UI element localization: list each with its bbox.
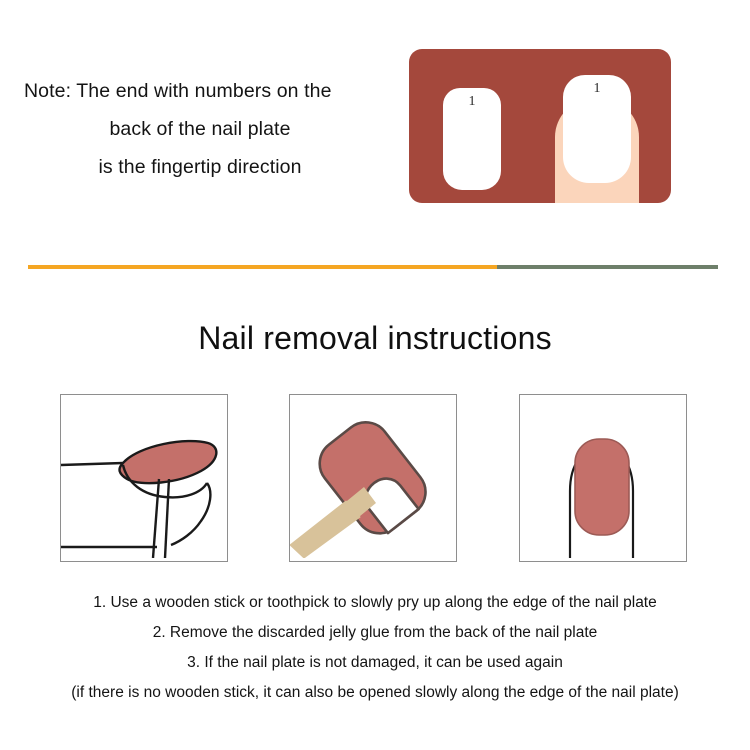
pry-up-side-view-icon [61, 395, 224, 558]
divider-segment-green [497, 265, 718, 269]
instruction-panels [0, 394, 750, 564]
note-line-1: Note: The end with numbers on the [10, 72, 390, 110]
divider-segment-orange [28, 265, 497, 269]
nail-plate-sticker-left: 1 [443, 88, 501, 190]
panel-nail-on-finger [519, 394, 687, 562]
finger-with-nail-plate: 1 [550, 75, 644, 203]
panel-pry-up-side-view [60, 394, 228, 562]
stick-under-nail-icon [290, 395, 453, 558]
section-divider [0, 265, 750, 269]
step-line-2: 2. Remove the discarded jelly glue from … [0, 618, 750, 648]
note-line-3: is the fingertip direction [10, 148, 390, 186]
nail-plate-illustration: 1 1 [409, 49, 671, 203]
step-line-4: (if there is no wooden stick, it can als… [0, 678, 750, 708]
note-line-2: back of the nail plate [10, 110, 390, 148]
nail-plate-number-left: 1 [443, 94, 501, 110]
nail-plate-number-right: 1 [563, 81, 631, 97]
nail-plate-sticker-right: 1 [563, 75, 631, 183]
note-text-block: Note: The end with numbers on the back o… [10, 72, 390, 186]
instruction-steps: 1. Use a wooden stick or toothpick to sl… [0, 588, 750, 708]
page-title: Nail removal instructions [0, 320, 750, 357]
step-line-3: 3. If the nail plate is not damaged, it … [0, 648, 750, 678]
step-line-1: 1. Use a wooden stick or toothpick to sl… [0, 588, 750, 618]
panel-stick-under-nail [289, 394, 457, 562]
nail-on-finger-icon [520, 395, 683, 558]
note-section: Note: The end with numbers on the back o… [0, 0, 750, 250]
